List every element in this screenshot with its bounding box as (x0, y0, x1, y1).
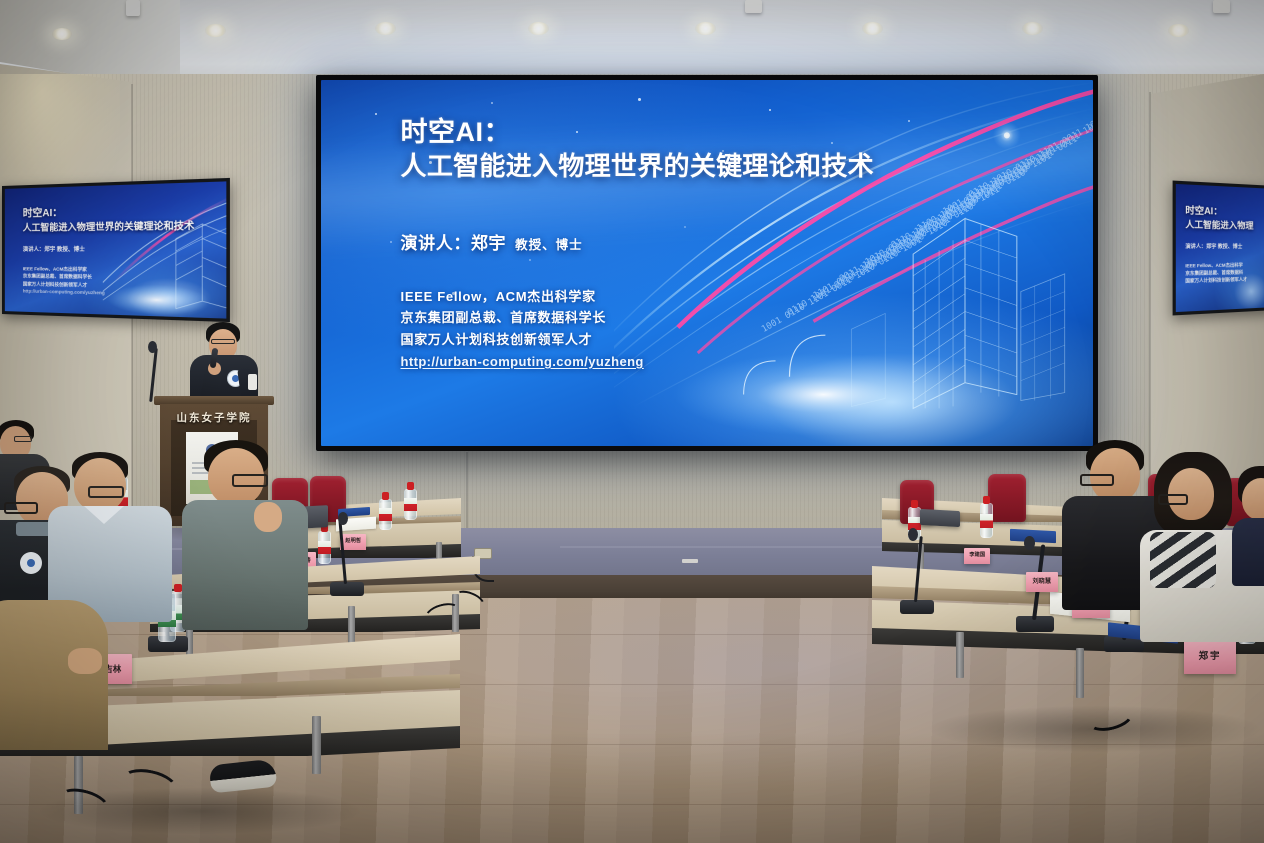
person-glasses (4, 502, 38, 514)
monitor-right-credit3: 国家万人计划科技创新领军人才 (1185, 276, 1264, 285)
name-card-right-4: 李建国 (964, 548, 990, 564)
person-torso (1232, 518, 1264, 586)
name-card-right-1: 刘晓慧 (1026, 572, 1058, 592)
person-glasses (14, 436, 32, 442)
presenter-degrees: 教授、博士 (515, 238, 583, 252)
person-head (74, 458, 126, 512)
credit-line-3: 国家万人计划科技创新领军人才 (401, 329, 1003, 350)
person-glasses (1158, 494, 1188, 505)
downlight-5 (695, 22, 716, 35)
right-table-2-leg-a (956, 632, 964, 678)
audience-left-d (178, 440, 308, 630)
monitor-right-title1: 时空AI： (1185, 205, 1264, 219)
audience-right-c (1238, 466, 1264, 586)
right-mic-capsule-1[interactable] (908, 528, 918, 541)
speaker-homepage-link[interactable]: http://urban-computing.com/yuzheng (401, 351, 644, 372)
slide-text-block: 时空AI： 人工智能进入物理世界的关键理论和技术 演讲人：郑宇教授、博士 IEE… (401, 117, 1003, 373)
monitor-right-title2: 人工智能进入物理 (1185, 219, 1264, 231)
person-badge-dot (27, 559, 35, 567)
left-mic-base-1[interactable] (330, 582, 364, 596)
credit-line-2: 京东集团副总裁、首席数据科学长 (401, 307, 1003, 328)
downlight-2 (205, 24, 226, 37)
slide-presenter-line: 演讲人：郑宇教授、博士 (401, 229, 1003, 254)
ceiling-sensor-3 (1213, 0, 1230, 13)
right-bottle-2 (980, 496, 993, 538)
right-laptop-1[interactable] (920, 509, 960, 527)
monitor-left-credits: IEEE Fellow、ACM杰出科学家 京东集团副总裁、首席数据科学长 国家万… (23, 265, 209, 298)
speaker-clicker[interactable] (248, 374, 257, 390)
person-glasses (88, 486, 124, 498)
side-monitor-left[interactable]: 时空AI： 人工智能进入物理世界的关键理论和技术 演讲人：郑宇 教授、博士 IE… (2, 178, 230, 322)
floor-marker (682, 559, 698, 563)
right-table-2-leg-b (1076, 648, 1084, 698)
person-hand (68, 648, 102, 674)
monitor-right-presenter: 演讲人：郑宇 教授、博士 (1185, 242, 1264, 250)
person-scarf (1150, 532, 1216, 588)
lecture-hall-photo: 1001 0110 1101 0011 1010 0110 1001 0110 … (0, 0, 1264, 843)
lectern-mic-capsule[interactable] (148, 341, 157, 353)
downlight-4 (528, 22, 549, 35)
downlight-8 (1168, 24, 1189, 37)
monitor-left-presenter: 演讲人：郑宇 教授、博士 (23, 245, 209, 254)
audience-left-c (48, 452, 168, 620)
presenter-name: 演讲人：郑宇 (401, 234, 507, 253)
left-bottle-3 (404, 482, 417, 520)
monitor-left-title2: 人工智能进入物理世界的关键理论和技术 (23, 219, 209, 233)
lectern-logo-text: 山东女子学院 (164, 410, 264, 425)
monitor-left-text: 时空AI： 人工智能进入物理世界的关键理论和技术 演讲人：郑宇 教授、博士 IE… (23, 204, 209, 299)
downlight-7 (1022, 22, 1043, 35)
person-glasses (232, 474, 268, 487)
speaker-glasses (211, 339, 235, 344)
downlight-1 (52, 28, 72, 40)
right-mic-base-1[interactable] (900, 600, 934, 614)
wall-panel-joint-b (466, 452, 468, 530)
left-bottle-2 (379, 492, 392, 530)
downlight-3 (375, 22, 396, 35)
slide-title-line2: 人工智能进入物理世界的关键理论和技术 (401, 151, 1003, 182)
right-chair-1[interactable] (988, 474, 1026, 522)
person-glasses (1080, 474, 1114, 486)
side-monitor-left-surface: 时空AI： 人工智能进入物理世界的关键理论和技术 演讲人：郑宇 教授、博士 IE… (5, 181, 227, 318)
monitor-left-title1: 时空AI： (23, 204, 209, 220)
slide-title-line1: 时空AI： (401, 117, 1003, 149)
name-card-right-3: 郑宇 (1184, 640, 1236, 674)
monitor-right-text: 时空AI： 人工智能进入物理 演讲人：郑宇 教授、博士 IEEE Fellow、… (1185, 205, 1264, 285)
slide-surface: 1001 0110 1101 0011 1010 0110 1001 0110 … (321, 80, 1093, 446)
person-torso (0, 600, 108, 750)
left-mic-capsule-1[interactable] (338, 512, 348, 525)
slide-credits-block: IEEE Fellow，ACM杰出科学家 京东集团副总裁、首席数据科学长 国家万… (401, 286, 1003, 373)
person-torso (182, 500, 308, 630)
downlight-6 (862, 22, 883, 35)
right-mic-capsule-2[interactable] (1024, 536, 1035, 550)
monitor-right-credits: IEEE Fellow、ACM杰出科学 京东集团副总裁、首席数据科 国家万人计划… (1185, 262, 1264, 285)
person-hand (254, 502, 282, 532)
audience-left-e (0, 600, 108, 750)
ceiling-sensor-2 (745, 0, 762, 13)
main-led-screen[interactable]: 1001 0110 1101 0011 1010 0110 1001 0110 … (316, 75, 1098, 451)
left-table-shadow (40, 788, 360, 834)
side-monitor-right[interactable]: 时空AI： 人工智能进入物理 演讲人：郑宇 教授、博士 IEEE Fellow、… (1173, 181, 1264, 316)
left-table-3-leg-b (312, 716, 321, 774)
side-monitor-right-surface: 时空AI： 人工智能进入物理 演讲人：郑宇 教授、博士 IEEE Fellow、… (1176, 184, 1264, 312)
right-table-shadow (930, 706, 1260, 752)
credit-line-1: IEEE Fellow，ACM杰出科学家 (401, 286, 1003, 307)
ceiling-sensor-1 (126, 0, 140, 16)
